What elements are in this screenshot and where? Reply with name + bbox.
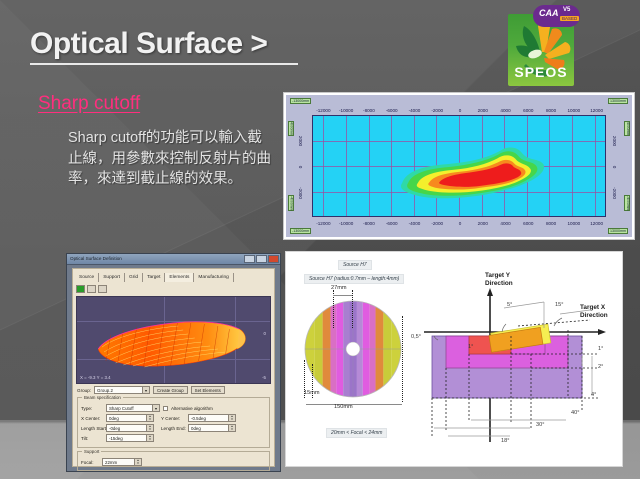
target-y-direction-label: Target Y Direction [485,272,513,287]
chart-corner-top-left: -13000mm [290,98,311,104]
viewport-toolbar [76,284,271,294]
chevron-down-icon[interactable]: ▾ [142,387,149,393]
length-start-value: -0deg [109,426,120,431]
viewport-axis-label-right: 0 [264,331,266,336]
support-title: Support [82,449,101,454]
focal-stepper[interactable]: ▴▾ [134,459,141,465]
angle-1-right: 1° [598,346,603,352]
dialog-title: Optical Surface Definition [70,256,122,261]
center-row: X Center: 0deg ▴▾ Y Center: -0.5deg ▴▾ [81,414,266,422]
chart-xtick: 10000 [567,108,580,113]
chart-side-left-top: 4000mm [288,121,294,136]
chart-corner-top-right: 13000mm [608,98,628,104]
caa-v5-badge: CAA V5 BASED [533,5,580,27]
optical-surface-mesh [77,297,270,383]
minimize-button[interactable] [244,255,255,263]
chart-xtick: 2000 [478,221,488,226]
chart-xtick: -2000 [431,221,443,226]
tag-focal-range: 20mm < Focal < 24mm [326,428,387,438]
slide-canvas: Optical Surface > Sharp cutoff Sharp cut… [0,0,640,479]
focal-row: Focal: 22mm ▴▾ [81,458,266,466]
dialog-titlebar[interactable]: Optical Surface Definition [67,254,280,265]
viewport-coordinate-label: X = -9.3 Y = 3.4 [80,375,111,380]
chart-xtick: 12000 [590,108,603,113]
wireframe-mode-icon[interactable] [87,285,96,293]
length-end-stepper[interactable]: ▴▾ [228,425,235,431]
target-x-direction-label: Target X Direction [580,304,608,319]
angle-2: 2° [598,364,603,370]
angle-40: 40° [571,410,579,416]
chart-xtick: 8000 [546,108,556,113]
x-center-input[interactable]: 0deg ▴▾ [106,414,154,422]
angle-5: 5° [507,302,512,308]
chart-xtick: -10000 [339,108,353,113]
tab-elements[interactable]: Elements [165,273,194,282]
length-end-label: Length End: [161,426,185,431]
chart-ytick: 2000 [298,136,303,146]
angle-1-left: 1° [468,344,473,350]
chart-ytick: 0 [612,166,617,169]
angle-0-5: 0,5° [411,334,421,340]
angle-15: 15° [555,302,563,308]
create-group-button[interactable]: Create Group [153,386,188,394]
target-zone-schematic [414,270,622,450]
viewport-axis-label-bottom: -5 [262,375,266,380]
chart-xtick: -8000 [363,221,375,226]
chart-xtick: 0 [459,221,462,226]
chart-side-right-top: 4000mm [624,121,630,136]
chart-xtick: -2000 [431,108,443,113]
chart-side-right-bottom: -4000mm [624,195,630,211]
chart-xtick: 0 [459,108,462,113]
chart-ytick: 0 [298,166,303,169]
y-center-label: Y Center: [161,416,185,421]
tab-source[interactable]: Source [75,273,99,282]
length-row: Length Start: -0deg ▴▾ Length End: 0deg … [81,424,266,432]
chart-xtick: 2000 [478,108,488,113]
chart-xtick: -4000 [409,221,421,226]
tilt-input[interactable]: -15deg ▴▾ [106,434,154,442]
subtitle-sharp-cutoff: Sharp cutoff [38,93,140,115]
chart-xtick: 8000 [546,221,556,226]
tag-source-long: Source H7 (radius:0.7mm – length:4mm) [304,274,404,284]
x-center-stepper[interactable]: ▴▾ [146,415,153,421]
contour-bands [312,115,606,217]
shaded-mode-icon[interactable] [98,285,107,293]
illuminance-contour-chart: -13000mm 13000mm -13000mm 13000mm 4000mm… [283,92,635,240]
chart-xtick: -10000 [339,221,353,226]
logo-wordmark: SPEOS [508,64,574,80]
chart-xtick: -4000 [409,108,421,113]
chart-xtick: 12000 [590,221,603,226]
caa-badge-sub: BASED [560,16,579,21]
tab-support[interactable]: Support [99,273,125,282]
length-start-input[interactable]: -0deg ▴▾ [106,424,154,432]
x-center-value: 0deg [109,416,119,421]
tilt-label: Tilt: [81,436,103,441]
focal-label: Focal: [81,460,99,465]
length-end-value: 0deg [191,426,201,431]
optical-surface-definition-dialog[interactable]: Optical Surface Definition SourceSupport… [66,253,281,472]
chart-ytick: 2000 [612,136,617,146]
chart-xtick: 4000 [500,221,510,226]
chart-inner-frame: -13000mm 13000mm -13000mm 13000mm 4000mm… [286,95,632,237]
tilt-value: -15deg [109,436,123,441]
render-mode-icon[interactable] [76,285,85,293]
dim-27mm: 27mm [331,285,347,291]
caa-badge-version: V5 [563,7,570,13]
tag-source-short: Source H7 [338,260,372,270]
group-label: Group: [77,388,91,393]
y-center-value: -0.5deg [191,416,206,421]
chevron-down-icon[interactable]: ▾ [152,405,159,411]
dim-150mm: 150mm [334,404,353,410]
x-center-label: X Center: [81,416,103,421]
focal-value: 22mm [105,460,117,465]
tilt-stepper[interactable]: ▴▾ [146,435,153,441]
y-center-input[interactable]: -0.5deg ▴▾ [188,414,236,422]
chart-xtick: 4000 [500,108,510,113]
beam-specification-group: Beam specification Type: Sharp Cutoff ▾ … [77,397,270,448]
type-combo[interactable]: Sharp Cutoff ▾ [106,404,160,412]
maximize-button[interactable] [256,255,267,263]
chart-corner-bottom-left: -13000mm [290,228,311,234]
striped-reflector-disk [304,300,402,398]
chart-xtick: -6000 [386,221,398,226]
alternative-algorithm-label: Alternative algorithm [171,406,213,411]
chart-xtick: 6000 [523,108,533,113]
chart-plot-area [312,115,606,217]
angle-4: 4° [591,392,596,398]
optical-design-diagram: Source H7 Source H7 (radius:0.7mm – leng… [285,251,623,467]
chart-side-left-bottom: -4000mm [288,195,294,211]
length-end-input[interactable]: 0deg ▴▾ [188,424,236,432]
chart-xtick: -12000 [316,108,330,113]
chart-xtick: -12000 [316,221,330,226]
chart-xtick: -8000 [363,108,375,113]
surface-3d-viewport[interactable]: X = -9.3 Y = 3.4 -5 0 [76,296,271,384]
caa-badge-main: CAA [539,8,559,18]
beam-specification-title: Beam specification [82,395,123,400]
set-elements-button[interactable]: Set Elements [191,386,225,394]
angle-30: 30° [536,422,544,428]
dialog-body: SourceSupportGridTargetElementsManufactu… [72,268,275,467]
type-row: Type: Sharp Cutoff ▾ Alternative algorit… [81,404,266,412]
tab-target[interactable]: Target [143,273,165,282]
type-value: Sharp Cutoff [109,406,134,411]
group-combo[interactable]: Group.2 ▾ [94,386,150,394]
body-paragraph: Sharp cutoff的功能可以輸入截止線，用參數來控制反射片的曲率，來達到截… [68,128,273,190]
chart-ytick: -2000 [298,187,303,199]
focal-input[interactable]: 22mm ▴▾ [102,458,142,466]
angle-18: 18° [501,438,509,444]
chart-corner-bottom-right: 13000mm [608,228,628,234]
alternative-algorithm-checkbox[interactable] [163,406,168,411]
chart-ytick: -2000 [612,187,617,199]
chart-xtick: 6000 [523,221,533,226]
dim-15mm: 15mm [304,390,320,396]
disk-svg [304,300,402,398]
page-title: Optical Surface > [30,28,330,60]
group-row: Group: Group.2 ▾ Create Group Set Elemen… [77,386,270,394]
dialog-tabs: SourceSupportGridTargetElementsManufactu… [73,269,274,282]
speos-logo: SPEOS CAA V5 BASED [502,5,580,87]
chart-xtick: 10000 [567,221,580,226]
tab-manufacturing[interactable]: Manufacturing [194,273,233,282]
title-underline [30,63,298,65]
tilt-row: Tilt: -15deg ▴▾ [81,434,266,442]
length-start-stepper[interactable]: ▴▾ [146,425,153,431]
y-center-stepper[interactable]: ▴▾ [228,415,235,421]
type-label: Type: [81,406,103,411]
group-value: Group.2 [97,388,113,393]
support-group: Support Focal: 22mm ▴▾ [77,451,270,471]
title-block: Optical Surface > [30,28,330,65]
length-start-label: Length Start: [81,426,103,431]
close-button[interactable] [268,255,279,263]
tab-grid[interactable]: Grid [125,273,143,282]
chart-xtick: -6000 [386,108,398,113]
